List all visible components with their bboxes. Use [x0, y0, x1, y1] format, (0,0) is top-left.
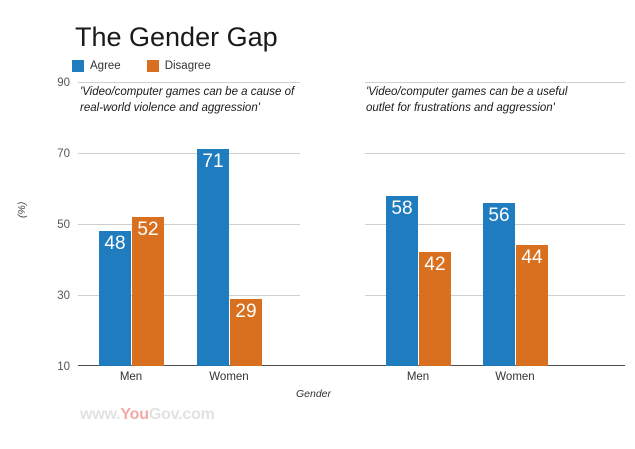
yougov-watermark: www.YouGov.com — [80, 406, 215, 424]
chart-legend: Agree Disagree — [72, 60, 211, 72]
bar-agree-men-panel0[interactable]: 48 — [99, 231, 131, 366]
chart-title: The Gender Gap — [75, 22, 278, 53]
gridline-50-left — [78, 224, 300, 225]
gridline-70-left — [78, 153, 300, 154]
bar-value-label: 52 — [132, 219, 164, 240]
gridline-90-right — [365, 82, 625, 83]
gender-gap-bar-chart: The Gender Gap Agree Disagree 1030507090… — [0, 0, 635, 449]
bar-value-label: 42 — [419, 254, 451, 275]
x-axis-label: Gender — [296, 388, 331, 400]
bar-value-label: 58 — [386, 198, 418, 219]
bar-agree-men-panel1[interactable]: 58 — [386, 196, 418, 366]
bar-value-label: 56 — [483, 205, 515, 226]
bar-disagree-women-panel0[interactable]: 29 — [230, 299, 262, 366]
bar-disagree-men-panel0[interactable]: 52 — [132, 217, 164, 366]
bar-agree-women-panel1[interactable]: 56 — [483, 203, 515, 366]
y-axis-tick-90: 90 — [57, 77, 70, 89]
gridline-90-left — [78, 82, 300, 83]
bar-value-label: 48 — [99, 233, 131, 254]
y-axis-tick-50: 50 — [57, 219, 70, 231]
y-axis-tick-30: 30 — [57, 290, 70, 302]
legend-swatch-icon-agree — [72, 60, 84, 72]
legend-label-disagree: Disagree — [165, 60, 211, 72]
x-axis-tick-men-panel0: Men — [120, 371, 142, 383]
bar-value-label: 71 — [197, 151, 229, 172]
bar-value-label: 44 — [516, 247, 548, 268]
x-axis-tick-women-panel0: Women — [209, 371, 248, 383]
bar-disagree-women-panel1[interactable]: 44 — [516, 245, 548, 366]
y-axis-ticks: 1030507090 — [0, 82, 78, 367]
legend-item-agree[interactable]: Agree — [72, 60, 121, 72]
bar-agree-women-panel0[interactable]: 71 — [197, 149, 229, 366]
plot-area: 4852712958425644 — [78, 82, 625, 366]
bar-disagree-men-panel1[interactable]: 42 — [419, 252, 451, 366]
x-axis-tick-women-panel1: Women — [495, 371, 534, 383]
x-axis-tick-men-panel1: Men — [407, 371, 429, 383]
legend-swatch-icon-disagree — [147, 60, 159, 72]
bar-value-label: 29 — [230, 301, 262, 322]
watermark-brand-gov: Gov.com — [149, 406, 215, 423]
legend-item-disagree[interactable]: Disagree — [147, 60, 211, 72]
legend-label-agree: Agree — [90, 60, 121, 72]
gridline-70-right — [365, 153, 625, 154]
y-axis-tick-70: 70 — [57, 148, 70, 160]
watermark-brand-you: You — [120, 406, 148, 423]
y-axis-label: (%) — [16, 202, 28, 218]
y-axis-tick-10: 10 — [57, 361, 70, 373]
watermark-prefix: www. — [80, 406, 120, 423]
